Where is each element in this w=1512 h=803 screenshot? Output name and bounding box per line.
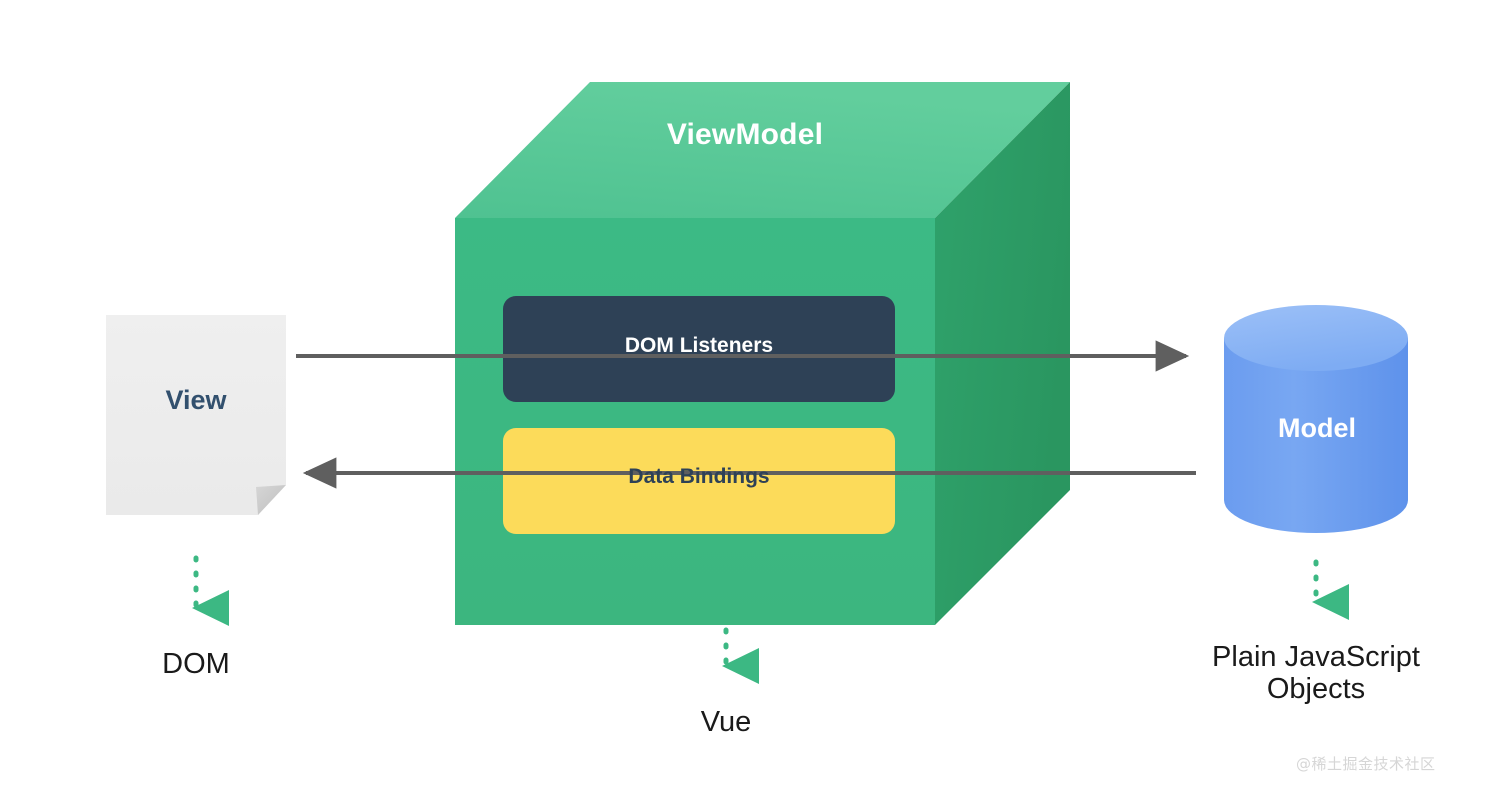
- model-cylinder-top: [1224, 305, 1408, 371]
- diagram-canvas: ViewModel View Model DOM Listeners Data …: [0, 0, 1512, 803]
- viewmodel-cube[interactable]: [455, 82, 1070, 625]
- view-document-shape: [106, 315, 286, 515]
- caption-dom: DOM: [96, 648, 296, 680]
- data-bindings-box[interactable]: [503, 428, 895, 534]
- view-node[interactable]: [106, 315, 286, 515]
- model-node[interactable]: [1224, 305, 1408, 533]
- dom-listeners-box[interactable]: [503, 296, 895, 402]
- cube-front-face: [455, 218, 935, 625]
- view-fold-corner-icon: [256, 485, 286, 515]
- watermark: @稀土掘金技术社区: [1296, 753, 1436, 774]
- caption-plain-javascript-objects: Plain JavaScript Objects: [1176, 641, 1456, 706]
- caption-vue: Vue: [626, 706, 826, 738]
